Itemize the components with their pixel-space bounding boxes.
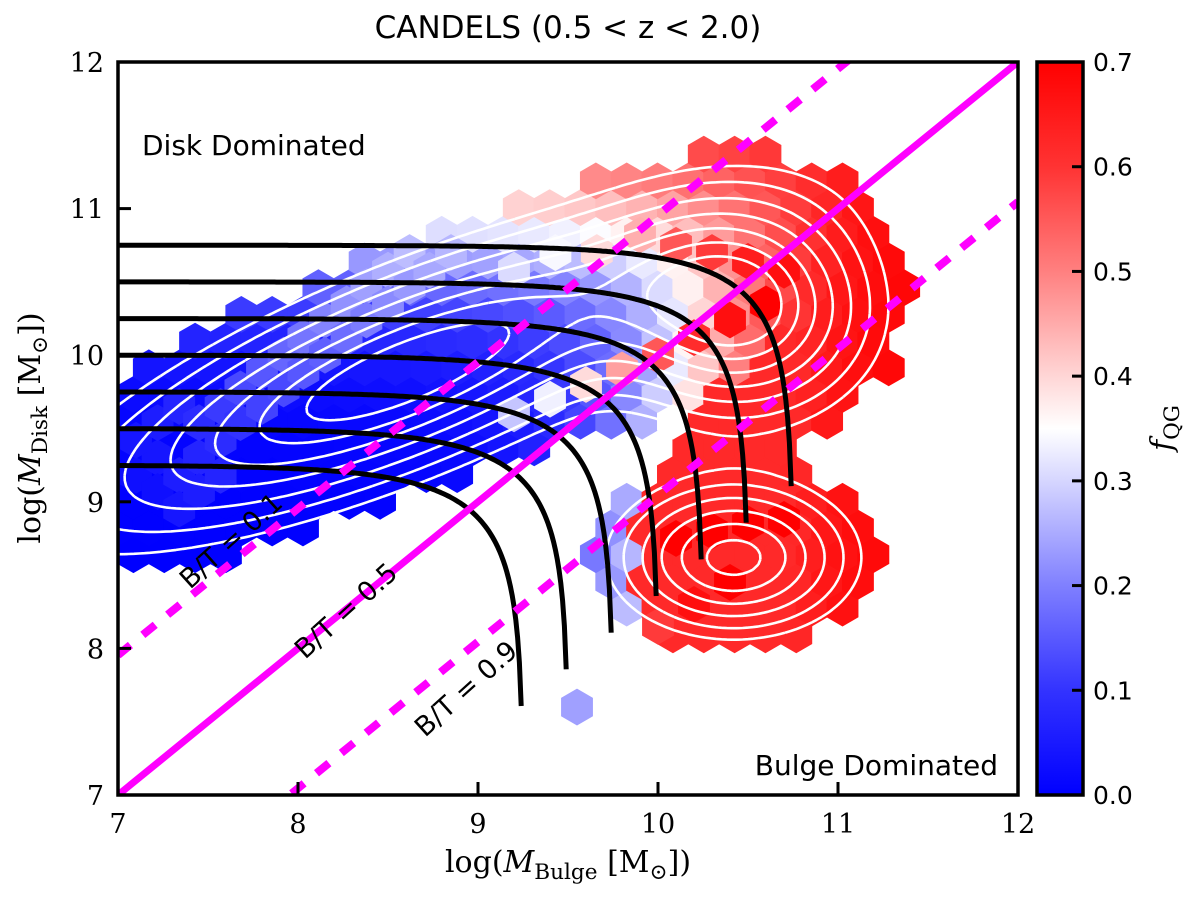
y-tick-label: 8: [87, 634, 104, 665]
colorbar-tick-label: 0.1: [1093, 676, 1133, 705]
page-title: CANDELS (0.5 < z < 2.0): [375, 10, 762, 46]
y-label-close: ]): [13, 312, 48, 335]
colorbar-tick-label: 0.2: [1093, 572, 1133, 601]
disk-dominated-label: Disk Dominated: [142, 129, 366, 162]
colorbar-label-sub: QG: [1160, 405, 1185, 440]
colorbar-tick-label: 0.5: [1093, 257, 1133, 286]
y-label-unit: [M: [13, 354, 48, 396]
y-tick-label: 9: [87, 488, 104, 519]
x-tick-label: 12: [1001, 809, 1035, 840]
x-label-log: log(: [445, 845, 504, 880]
x-label-unit: [M: [607, 845, 649, 880]
y-tick-label: 10: [70, 341, 104, 372]
x-label-sub: Bulge: [534, 860, 597, 885]
x-label-close: ]): [668, 845, 691, 880]
colorbar-label: fQG: [1145, 405, 1185, 453]
x-tick-label: 7: [109, 809, 126, 840]
colorbar-tick-label: 0.6: [1093, 153, 1133, 182]
y-label-sub: Disk: [28, 405, 53, 454]
x-label-m: M: [503, 845, 536, 880]
colorbar-tick-label: 0.7: [1093, 48, 1133, 77]
x-tick-label: 8: [289, 809, 306, 840]
colorbar-tick-label: 0.4: [1093, 362, 1133, 391]
y-tick-label: 7: [87, 781, 104, 812]
x-label-sun: ⊙: [650, 860, 668, 885]
y-label-m: M: [13, 453, 48, 486]
x-axis-label: log(MBulge [M⊙]): [445, 845, 691, 885]
y-axis-label: log(MDisk [M⊙]): [13, 312, 53, 543]
y-tick-label: 11: [70, 195, 104, 226]
colorbar-tick-label: 0.3: [1093, 467, 1133, 496]
colorbar-tick-label: 0.0: [1093, 781, 1133, 810]
bulge-dominated-label: Bulge Dominated: [755, 749, 998, 782]
x-tick-label: 9: [469, 809, 486, 840]
colorbar-gradient: [1037, 62, 1083, 795]
y-tick-label: 12: [70, 48, 104, 79]
x-tick-label: 11: [821, 809, 855, 840]
x-tick-label: 10: [641, 809, 675, 840]
plot-svg: CANDELS (0.5 < z < 2.0) Disk Dominated B…: [0, 0, 1200, 910]
y-label-log: log(: [13, 485, 48, 544]
y-label-sun: ⊙: [28, 336, 53, 354]
figure-canvas: CANDELS (0.5 < z < 2.0) Disk Dominated B…: [0, 0, 1200, 910]
